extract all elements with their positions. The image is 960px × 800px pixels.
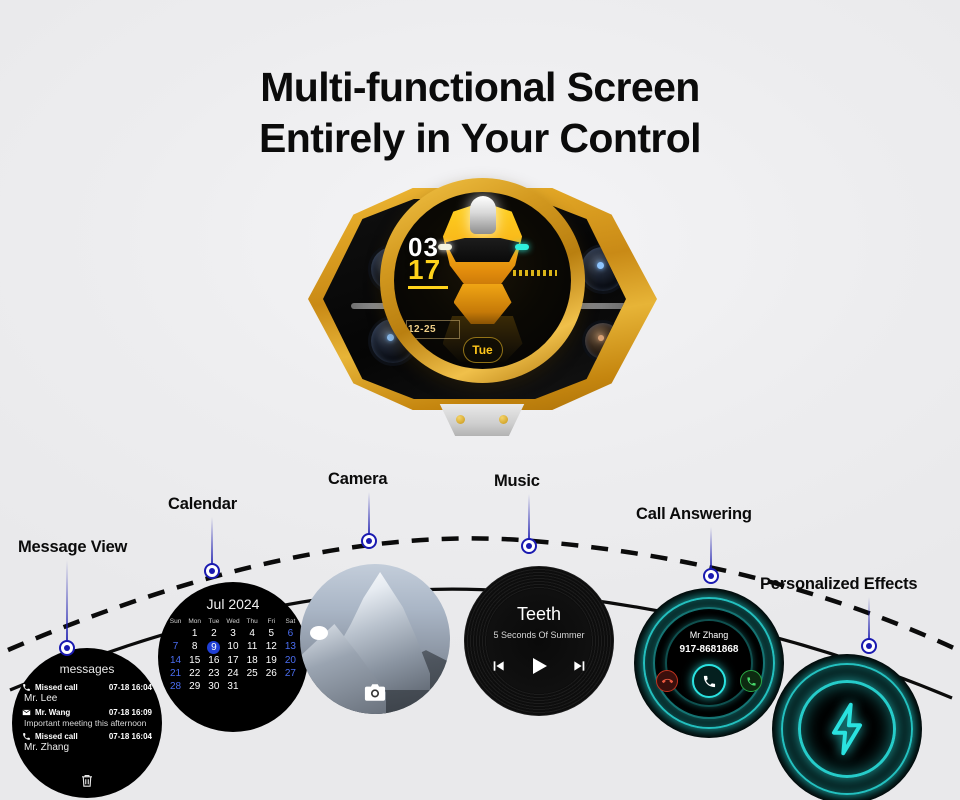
phone-missed-icon: [22, 732, 31, 741]
feature-label-music: Music: [494, 472, 540, 491]
pin-marker-call[interactable]: [703, 568, 719, 584]
trash-icon[interactable]: [80, 773, 95, 788]
calendar-day-cell[interactable]: 25: [243, 668, 262, 680]
calendar-day-cell[interactable]: 12: [262, 641, 281, 654]
message-time: 07-18 16:09: [109, 708, 152, 717]
caller-name: Mr Zhang: [634, 630, 784, 640]
mecha-visor: [446, 238, 520, 262]
calendar-day-cell[interactable]: 7: [166, 641, 185, 654]
feature-circle-music[interactable]: Teeth 5 Seconds Of Summer: [464, 566, 614, 716]
messages-title: messages: [22, 662, 152, 676]
decline-call-button[interactable]: [656, 670, 678, 692]
calendar-grid[interactable]: SunMonTueWedThuFriSat1234567891011121314…: [166, 618, 300, 693]
watch-face: 03 17 12-25 Tue: [394, 192, 571, 369]
message-kind: Missed call: [35, 683, 78, 692]
calendar-day-header: Sat: [281, 618, 300, 627]
watch-weekday-badge: Tue: [463, 337, 503, 363]
track-artist: 5 Seconds Of Summer: [464, 630, 614, 640]
message-contact: Mr. Zhang: [24, 742, 152, 753]
pin-stem-music: [528, 494, 530, 540]
calendar-day-cell[interactable]: 11: [243, 641, 262, 654]
product-feature-page: Multi-functional Screen Entirely in Your…: [0, 0, 960, 800]
pin-stem-camera: [368, 492, 370, 535]
feature-circle-calendar[interactable]: Jul 2024 SunMonTueWedThuFriSat1234567891…: [158, 582, 308, 732]
pin-marker-calendar[interactable]: [204, 563, 220, 579]
phone-accept-icon: [746, 676, 757, 687]
calendar-day-cell[interactable]: 15: [185, 655, 204, 667]
calendar-day-cell[interactable]: 14: [166, 655, 185, 667]
skip-back-icon[interactable]: [491, 658, 507, 674]
pin-stem-effects: [868, 597, 870, 640]
calendar-title: Jul 2024: [166, 596, 300, 612]
message-kind: Mr. Wang: [35, 708, 70, 717]
feature-label-call: Call Answering: [636, 505, 752, 524]
feature-circle-call-answering[interactable]: Mr Zhang 917-8681868: [634, 588, 784, 738]
caller-number: 917-8681868: [634, 644, 784, 655]
message-row[interactable]: Mr. Wang 07-18 16:09: [22, 708, 152, 717]
camera-icon[interactable]: [364, 683, 386, 702]
headline-line-1: Multi-functional Screen: [260, 64, 700, 110]
calendar-day-cell[interactable]: 19: [262, 655, 281, 667]
calendar-day-cell[interactable]: 2: [204, 628, 223, 640]
calendar-day-cell[interactable]: 30: [204, 681, 223, 693]
calendar-day-cell[interactable]: 13: [281, 641, 300, 654]
feature-label-calendar: Calendar: [168, 495, 237, 514]
phone-decline-icon: [662, 676, 673, 687]
calendar-day-cell[interactable]: 8: [185, 641, 204, 654]
pin-stem-calendar: [211, 517, 213, 565]
calendar-day-cell[interactable]: 20: [281, 655, 300, 667]
pin-marker-effects[interactable]: [861, 638, 877, 654]
calendar-day-cell[interactable]: 24: [223, 668, 242, 680]
pin-dot-icon: [366, 538, 372, 544]
feature-label-message: Message View: [18, 538, 127, 557]
message-row[interactable]: Missed call 07-18 16:04: [22, 683, 152, 692]
calendar-day-cell[interactable]: 31: [223, 681, 242, 693]
feature-label-camera: Camera: [328, 470, 387, 489]
phone-missed-icon: [22, 683, 31, 692]
smartwatch-hero: 03 17 12-25 Tue: [300, 182, 665, 440]
calendar-day-cell[interactable]: 28: [166, 681, 185, 693]
page-title: Multi-functional Screen Entirely in Your…: [0, 62, 960, 164]
calendar-day-cell[interactable]: 26: [262, 668, 281, 680]
headline-line-2: Entirely in Your Control: [0, 113, 960, 164]
pin-marker-message[interactable]: [59, 640, 75, 656]
calendar-day-cell[interactable]: 9: [204, 641, 223, 654]
calendar-day-cell[interactable]: 3: [223, 628, 242, 640]
mecha-eye-right: [515, 244, 529, 250]
message-time: 07-18 16:04: [109, 732, 152, 741]
pin-dot-icon: [209, 568, 215, 574]
pin-marker-camera[interactable]: [361, 533, 377, 549]
calendar-day-header: Thu: [243, 618, 262, 627]
calendar-day-header: Wed: [223, 618, 242, 627]
feature-label-effects: Personalized Effects: [760, 575, 917, 594]
pin-dot-icon: [64, 645, 70, 651]
pin-stem-message: [66, 560, 68, 642]
lightning-bolt-icon: [824, 701, 870, 757]
calendar-day-cell[interactable]: 21: [166, 668, 185, 680]
feature-circle-message-view[interactable]: messages Missed call 07-18 16:04 Mr. Lee…: [12, 648, 162, 798]
photo-badge: [310, 626, 328, 640]
pin-dot-icon: [866, 643, 872, 649]
calendar-day-cell[interactable]: 17: [223, 655, 242, 667]
calendar-day-header: Tue: [204, 618, 223, 627]
calendar-day-cell[interactable]: 4: [243, 628, 262, 640]
mecha-eye-left: [438, 244, 452, 250]
calendar-day-cell[interactable]: 18: [243, 655, 262, 667]
track-title: Teeth: [464, 604, 614, 625]
watch-clasp: [434, 404, 530, 436]
calendar-day-cell[interactable]: 27: [281, 668, 300, 680]
calendar-day-cell[interactable]: 10: [223, 641, 242, 654]
message-kind: Missed call: [35, 732, 78, 741]
calendar-day-cell[interactable]: 1: [185, 628, 204, 640]
phone-answer-icon: [702, 674, 717, 689]
message-contact: Mr. Lee: [24, 693, 152, 704]
skip-forward-icon[interactable]: [571, 658, 587, 674]
calendar-day-cell[interactable]: 29: [185, 681, 204, 693]
mecha-crest-icon: [470, 196, 496, 234]
calendar-day-cell[interactable]: 23: [204, 668, 223, 680]
calendar-day-cell[interactable]: 16: [204, 655, 223, 667]
watch-indicator-dots: [513, 270, 557, 276]
message-time: 07-18 16:04: [109, 683, 152, 692]
envelope-icon: [22, 708, 31, 717]
calendar-day-cell[interactable]: 5: [262, 628, 281, 640]
pin-dot-icon: [708, 573, 714, 579]
calendar-day-header: Fri: [262, 618, 281, 627]
feature-circle-personalized-effects[interactable]: [772, 654, 922, 800]
pin-stem-call: [710, 527, 712, 570]
message-row[interactable]: Missed call 07-18 16:04: [22, 732, 152, 741]
answer-call-button[interactable]: [692, 664, 726, 698]
play-icon[interactable]: [527, 654, 551, 678]
calendar-selected-day: 9: [207, 641, 220, 654]
accept-call-button[interactable]: [740, 670, 762, 692]
watch-minutes: 17: [408, 254, 441, 286]
feature-circle-camera[interactable]: [300, 564, 450, 714]
pin-dot-icon: [526, 543, 532, 549]
calendar-day-header: Mon: [185, 618, 204, 627]
watch-bezel: 03 17 12-25 Tue: [380, 178, 585, 383]
calendar-day-cell[interactable]: 22: [185, 668, 204, 680]
watch-date: 12-25: [408, 324, 436, 335]
calendar-day-header: Sun: [166, 618, 185, 627]
pin-marker-music[interactable]: [521, 538, 537, 554]
calendar-blank-cell: [166, 628, 185, 640]
message-preview: Important meeting this afternoon: [24, 718, 152, 728]
calendar-day-cell[interactable]: 6: [281, 628, 300, 640]
